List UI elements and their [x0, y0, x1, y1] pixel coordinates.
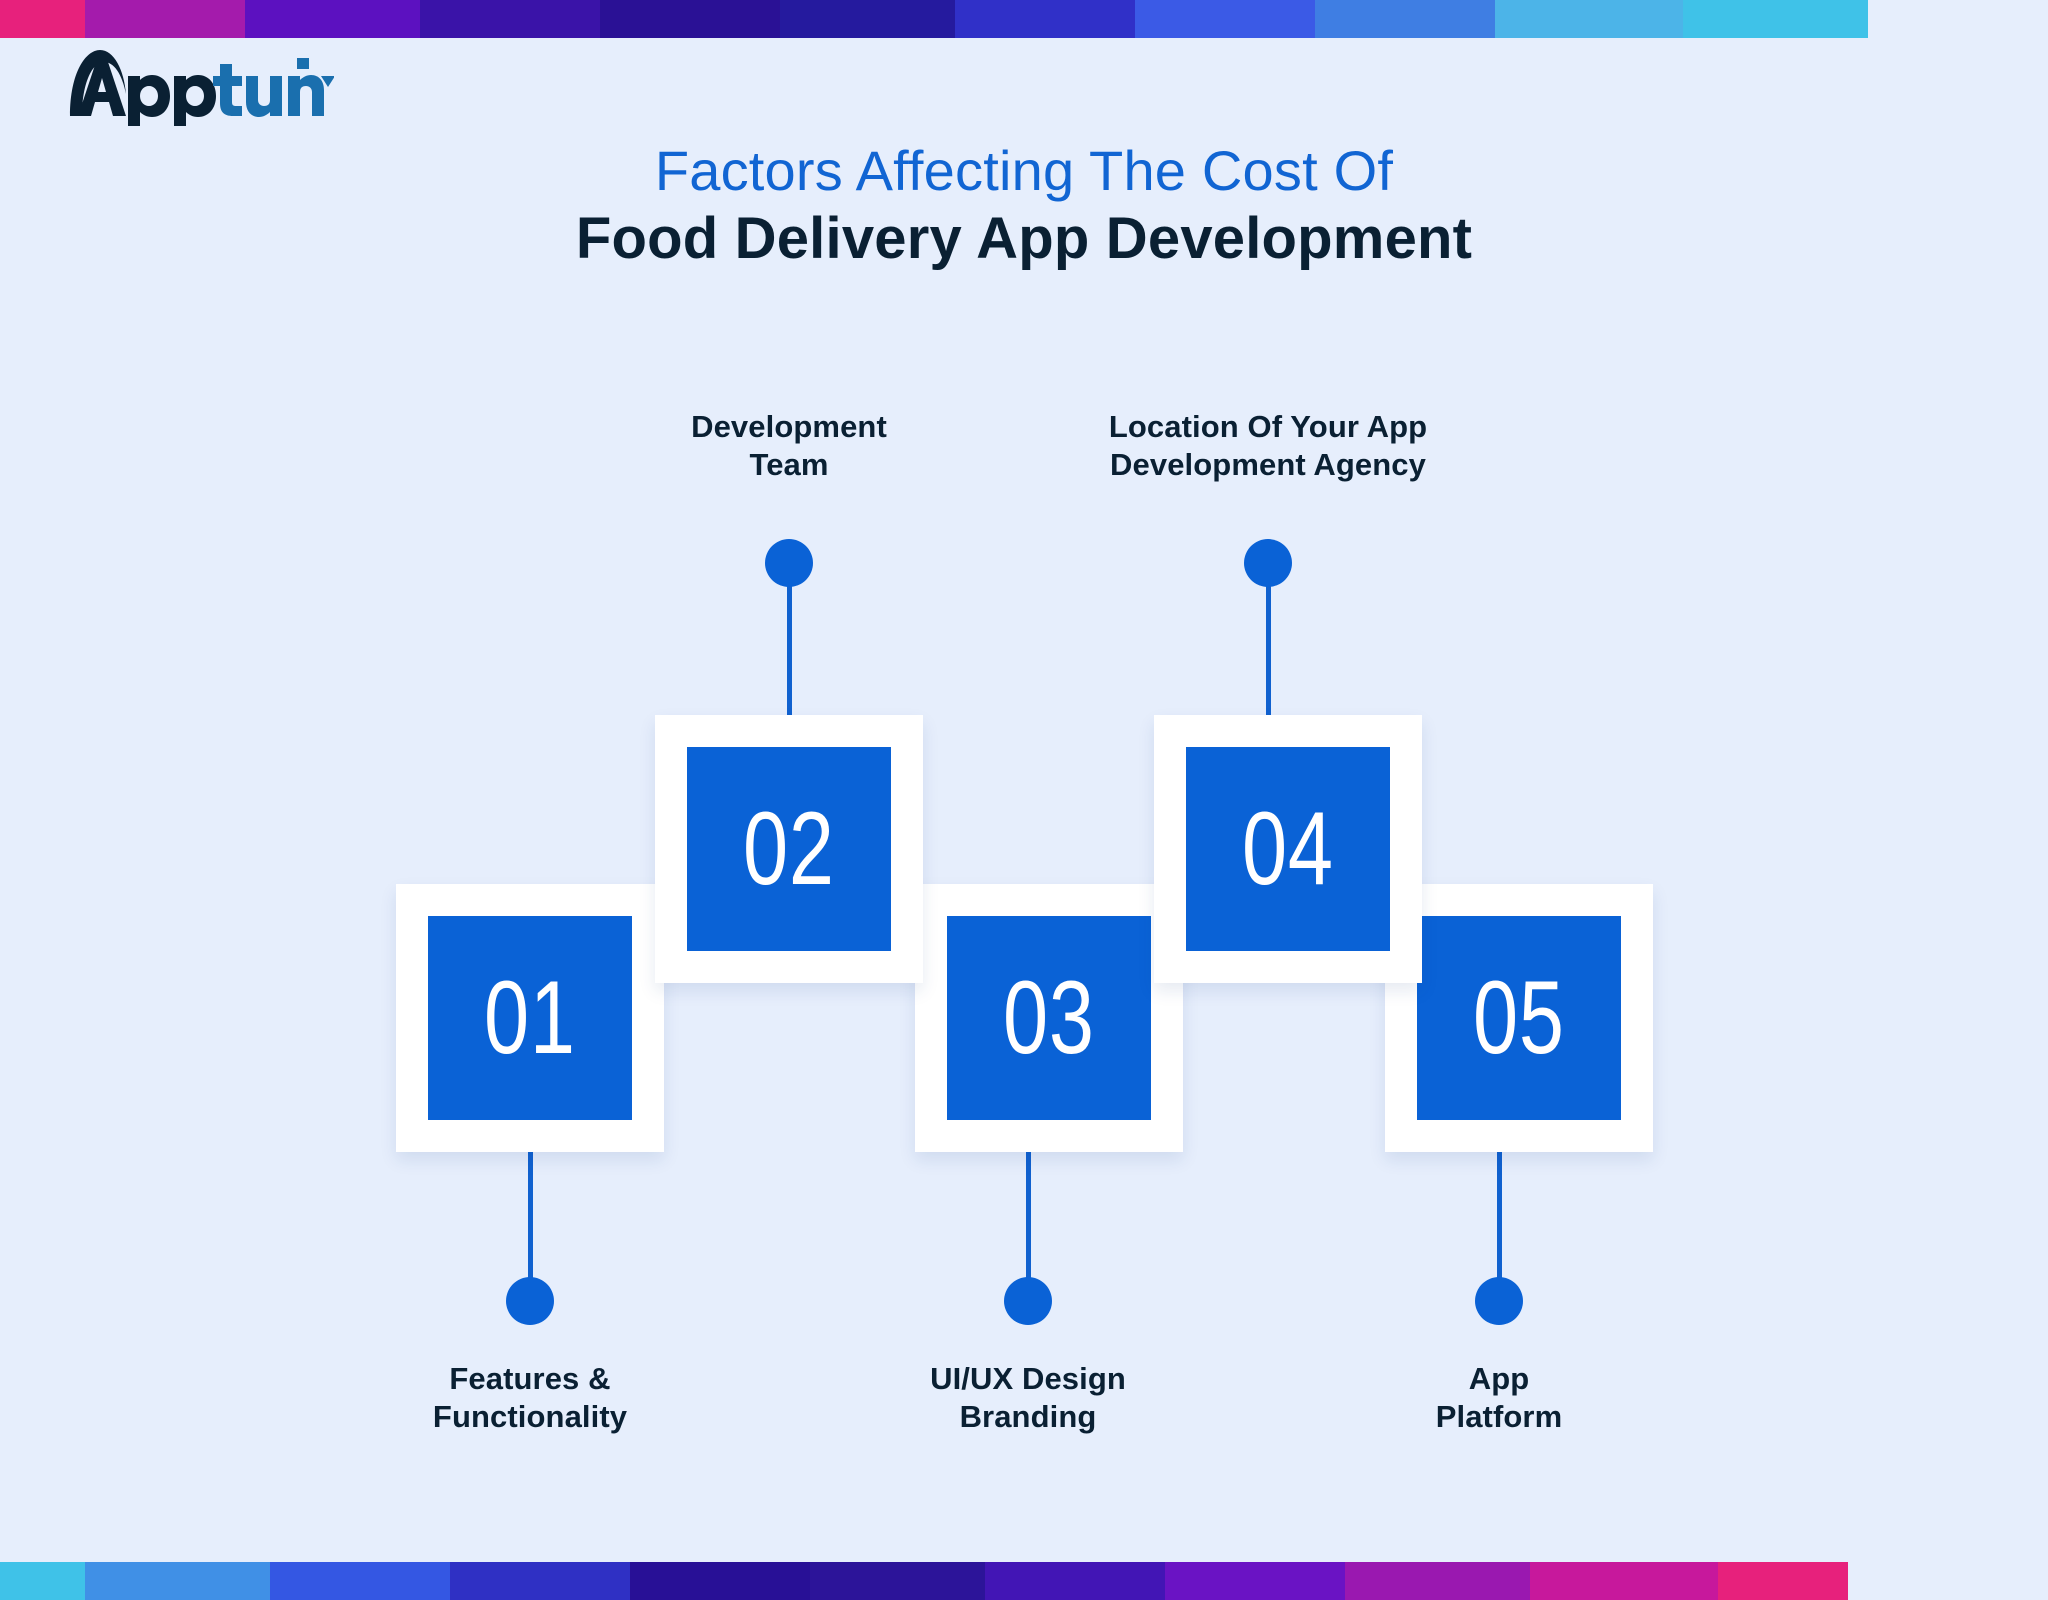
steps-stage: 01Features &Functionality02DevelopmentTe…: [0, 0, 2048, 1600]
step-caption-line-05-2: Platform: [1289, 1398, 1709, 1436]
step-number-tile-03: 03: [947, 916, 1151, 1120]
connector-dot-04: [1244, 539, 1292, 587]
bottom-strip-segment-5: [630, 1562, 810, 1600]
step-card-03[interactable]: 03: [915, 884, 1183, 1152]
step-caption-line-01-1: Features &: [320, 1360, 740, 1398]
step-caption-04: Location Of Your AppDevelopment Agency: [998, 408, 1538, 484]
step-number-tile-04: 04: [1186, 747, 1390, 951]
bottom-strip-segment-8: [1165, 1562, 1345, 1600]
step-number-label-01: 01: [484, 966, 576, 1070]
step-number-label-05: 05: [1473, 966, 1565, 1070]
step-caption-line-03-1: UI/UX Design: [818, 1360, 1238, 1398]
connector-dot-03: [1004, 1277, 1052, 1325]
step-card-01[interactable]: 01: [396, 884, 664, 1152]
step-card-04[interactable]: 04: [1154, 715, 1422, 983]
bottom-strip-segment-2: [85, 1562, 270, 1600]
step-number-tile-02: 02: [687, 747, 891, 951]
step-caption-line-04-2: Development Agency: [998, 446, 1538, 484]
step-caption-line-05-1: App: [1289, 1360, 1709, 1398]
step-caption-line-01-2: Functionality: [320, 1398, 740, 1436]
bottom-strip-segment-10: [1530, 1562, 1718, 1600]
step-caption-line-03-2: Branding: [818, 1398, 1238, 1436]
step-caption-05: AppPlatform: [1289, 1360, 1709, 1436]
infographic-canvas: Factors Affecting The Cost Of Food Deliv…: [0, 0, 2048, 1600]
bottom-strip-segment-3: [270, 1562, 450, 1600]
step-number-tile-01: 01: [428, 916, 632, 1120]
step-number-tile-05: 05: [1417, 916, 1621, 1120]
step-number-label-04: 04: [1242, 797, 1334, 901]
step-card-05[interactable]: 05: [1385, 884, 1653, 1152]
step-caption-03: UI/UX DesignBranding: [818, 1360, 1238, 1436]
bottom-strip-segment-11: [1718, 1562, 1848, 1600]
connector-dot-02: [765, 539, 813, 587]
bottom-color-strip: [0, 1562, 2048, 1600]
step-number-label-03: 03: [1003, 966, 1095, 1070]
bottom-strip-segment-4: [450, 1562, 630, 1600]
bottom-strip-segment-6: [810, 1562, 985, 1600]
step-number-label-02: 02: [743, 797, 835, 901]
bottom-strip-segment-1: [0, 1562, 85, 1600]
step-card-02[interactable]: 02: [655, 715, 923, 983]
step-caption-02: DevelopmentTeam: [579, 408, 999, 484]
connector-dot-01: [506, 1277, 554, 1325]
bottom-strip-segment-7: [985, 1562, 1165, 1600]
connector-dot-05: [1475, 1277, 1523, 1325]
bottom-strip-segment-9: [1345, 1562, 1530, 1600]
step-caption-line-02-1: Development: [579, 408, 999, 446]
step-caption-line-04-1: Location Of Your App: [998, 408, 1538, 446]
step-caption-01: Features &Functionality: [320, 1360, 740, 1436]
step-caption-line-02-2: Team: [579, 446, 999, 484]
